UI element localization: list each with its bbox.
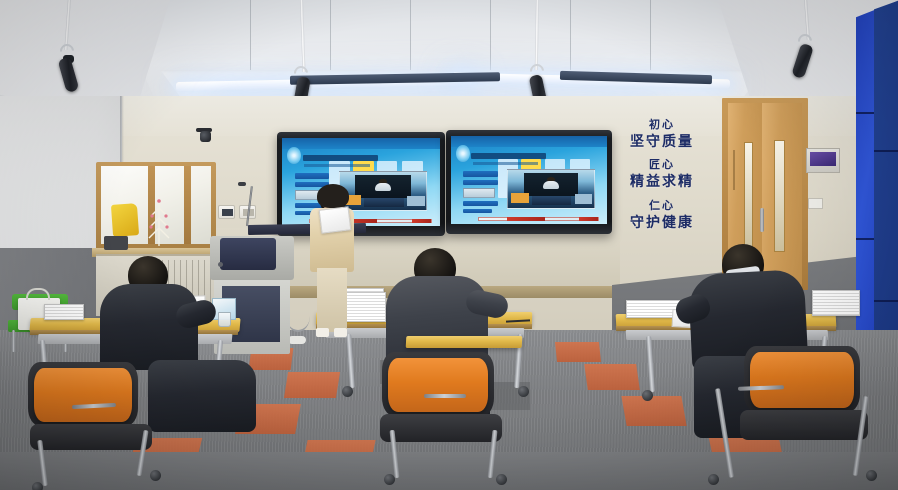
- slide-video-sideobject: [575, 194, 592, 204]
- paper-stack-tall: [342, 292, 386, 322]
- classroom-scene: 初心 坚守质量 匠心 精益求精 仁心 守护健康: [0, 0, 898, 490]
- decorative-tree: [146, 196, 172, 248]
- chair-caster: [496, 474, 507, 485]
- slide-subtitle: [473, 162, 539, 166]
- slide-navbar: [451, 136, 607, 147]
- slide-video-desk: [532, 196, 571, 204]
- presenter-shoe: [316, 328, 329, 337]
- acoustic-panel-seam: [874, 300, 898, 302]
- left-display-screen: [282, 138, 440, 226]
- presenter-papers: [319, 206, 352, 233]
- right-display[interactable]: [446, 130, 612, 234]
- light-switch-plate[interactable]: [218, 205, 235, 219]
- desk-caster: [642, 390, 653, 401]
- slide-bullet-box: [463, 171, 497, 177]
- slide-navbar: [282, 138, 440, 149]
- left-display[interactable]: [277, 132, 445, 236]
- water-cup: [218, 312, 231, 327]
- door-hinge: [733, 150, 735, 190]
- slide-bullet-box: [463, 180, 497, 185]
- floor-foreground: [0, 452, 898, 490]
- desk-caster: [342, 386, 353, 397]
- carpet-tile-orange: [284, 372, 340, 398]
- green-chair-leg: [12, 330, 15, 352]
- wall-calligraphy-line-2-big: 守护健康: [614, 214, 710, 234]
- slide-bullet-box: [463, 209, 491, 213]
- chair-right-seat[interactable]: [740, 410, 868, 440]
- wall-calligraphy-line-0-small: 初心: [614, 118, 710, 133]
- presenter-pants: [317, 268, 347, 332]
- slide-logo-icon: [287, 147, 301, 165]
- presenter-hair: [317, 184, 349, 208]
- carpet-tile-orange: [621, 396, 686, 426]
- slide-video[interactable]: [339, 171, 427, 211]
- chair-caster: [150, 470, 161, 481]
- chair-right-back[interactable]: [750, 352, 854, 408]
- microphone-head: [238, 182, 246, 186]
- slide-video-desk: [364, 198, 404, 206]
- slide-bullet-box: [463, 201, 497, 206]
- slide-logo-icon: [456, 145, 470, 163]
- desk-front: [406, 336, 523, 348]
- acoustic-panel-seam: [874, 150, 898, 152]
- chair-left-seat[interactable]: [30, 424, 152, 450]
- chair-caster: [384, 474, 395, 485]
- slide-ticker-red-right: [579, 217, 598, 221]
- wall-control-panel-screen[interactable]: [810, 152, 836, 166]
- podium-knob[interactable]: [218, 262, 223, 267]
- dark-box-on-sill: [104, 236, 128, 250]
- wall-calligraphy: 初心 坚守质量 匠心 精益求精 仁心 守护健康: [614, 118, 710, 239]
- chair-caster: [708, 474, 719, 485]
- slide-ticker-red-left: [507, 217, 544, 221]
- wall-outlet: [808, 198, 823, 209]
- door-handle[interactable]: [760, 208, 764, 232]
- attendee-center-torso: [386, 276, 488, 364]
- chair-left-back[interactable]: [34, 368, 132, 422]
- slide-video-person-body: [375, 183, 392, 191]
- slide-image-thumb: [463, 188, 494, 199]
- slide-video-sideobject: [511, 193, 530, 203]
- slide-bullet-box: [295, 173, 330, 179]
- slide-title: [471, 153, 546, 159]
- slide-subtitle: [304, 164, 370, 168]
- slide-video-frame: [355, 175, 410, 199]
- slide-ticker-red-right: [412, 219, 431, 223]
- slide-video-frame: [524, 173, 579, 197]
- chair-center-back[interactable]: [388, 358, 488, 412]
- wall-calligraphy-line-0-big: 坚守质量: [614, 133, 710, 153]
- slide-title: [303, 155, 379, 161]
- presenter-shoe: [334, 328, 347, 337]
- paper-stack: [44, 304, 84, 320]
- chair-caster: [866, 470, 877, 481]
- desk-caster: [518, 386, 529, 397]
- window-mullion: [184, 166, 191, 244]
- podium-monitor[interactable]: [220, 238, 276, 270]
- wall-calligraphy-line-1-big: 精益求精: [614, 173, 710, 193]
- paper-stack: [812, 290, 860, 316]
- chair-caster: [32, 482, 43, 490]
- slide-video-person-body: [543, 181, 559, 189]
- carpet-tile-orange: [555, 342, 601, 362]
- slide-video[interactable]: [507, 169, 594, 209]
- camera-icon: [200, 131, 211, 142]
- door-glass-panel: [744, 142, 753, 252]
- attendee-left-legs: [148, 360, 256, 432]
- tote-bag-handle: [26, 288, 50, 300]
- right-display-screen: [451, 136, 607, 224]
- chair-center-seat[interactable]: [380, 414, 502, 442]
- door-glass-panel: [774, 140, 785, 252]
- slide-video-sideobject: [407, 196, 424, 206]
- wall-calligraphy-line-1-small: 匠心: [614, 158, 710, 173]
- carpet-tile-orange: [584, 364, 640, 390]
- chair-center-crossbar: [424, 394, 466, 398]
- cable-cover: [288, 336, 306, 344]
- yellow-bag-on-sill: [111, 203, 139, 237]
- wall-calligraphy-line-2-small: 仁心: [614, 199, 710, 214]
